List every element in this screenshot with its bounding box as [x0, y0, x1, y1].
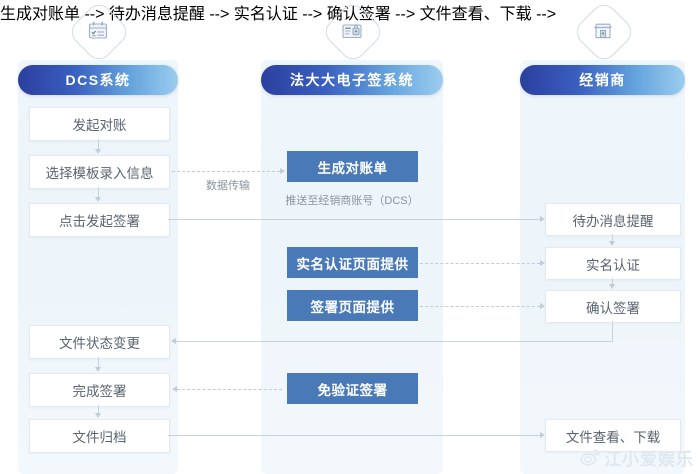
connector-label-data-transfer: 数据传输 [186, 177, 270, 193]
connector-sign-page-to-confirm [420, 306, 540, 307]
step-dcs-file-status-change[interactable]: 文件状态变更 [29, 325, 170, 359]
connector-confirm-sign-to-file-status [176, 341, 613, 342]
step-dcs-click-initiate-sign[interactable]: 点击发起签署 [29, 203, 170, 237]
step-fadada-signing-page[interactable]: 签署页面提供 [287, 290, 418, 321]
caption-push-to-dealer-account: 推送至经销商账号（DCS） [261, 192, 443, 208]
lane-header-dcs: DCS系统 [18, 65, 178, 95]
arrowhead-right [540, 216, 545, 222]
step-dealer-view-download[interactable]: 文件查看、下载 [545, 419, 681, 452]
arrowhead-down [95, 149, 101, 154]
step-dcs-select-template[interactable]: 选择模板录入信息 [29, 155, 170, 189]
arrowhead-right [280, 168, 285, 174]
arrowhead-left [172, 386, 177, 392]
step-dealer-todo-notification[interactable]: 待办消息提醒 [545, 203, 681, 236]
arrowhead-right [540, 303, 545, 309]
step-dcs-file-archive[interactable]: 文件归档 [29, 419, 170, 453]
arrowhead-right [540, 432, 545, 438]
clipboard-checklist-icon [69, 2, 127, 60]
lane-header-dealer: 经销商 [520, 65, 685, 95]
step-fadada-realname-page[interactable]: 实名认证页面提供 [287, 247, 418, 278]
lane-header-fadada: 法大大电子签系统 [261, 65, 443, 95]
arrowhead-left [171, 338, 176, 344]
storefront-icon [574, 2, 632, 60]
connector-archive-to-view-download [168, 435, 540, 436]
step-dcs-complete-signing[interactable]: 完成签署 [29, 373, 170, 407]
step-fadada-no-verify-sign[interactable]: 免验证签署 [287, 373, 418, 404]
arrowhead-down [95, 367, 101, 372]
step-fadada-generate-statement[interactable]: 生成对账单 [287, 151, 418, 182]
lane-icon-badge-dcs [69, 2, 127, 60]
connector-realname-page-to-auth [420, 263, 540, 264]
arrowhead-right [540, 260, 545, 266]
id-card-icon [323, 2, 381, 60]
lane-icon-badge-dealer [574, 2, 632, 60]
arrowhead-down [609, 241, 615, 246]
arrowhead-down [609, 284, 615, 289]
connector-click-sign-to-todo [168, 219, 540, 220]
arrowhead-down [95, 197, 101, 202]
connector-no-verify-to-complete [177, 389, 282, 390]
connector-select-template-to-generate [172, 171, 280, 172]
arrowhead-down [95, 413, 101, 418]
flowchart-canvas: DCS系统 法大大电子签系统 经销商 发起对账 选择模板录入信息 点击发起签署 … [0, 0, 700, 474]
step-dcs-initiate-reconciliation[interactable]: 发起对账 [29, 107, 170, 141]
step-dealer-confirm-sign[interactable]: 确认签署 [545, 290, 681, 323]
lane-icon-badge-fadada [323, 2, 381, 60]
connector-confirm-sign-drop [612, 321, 613, 341]
step-dealer-realname-auth[interactable]: 实名认证 [545, 247, 681, 280]
